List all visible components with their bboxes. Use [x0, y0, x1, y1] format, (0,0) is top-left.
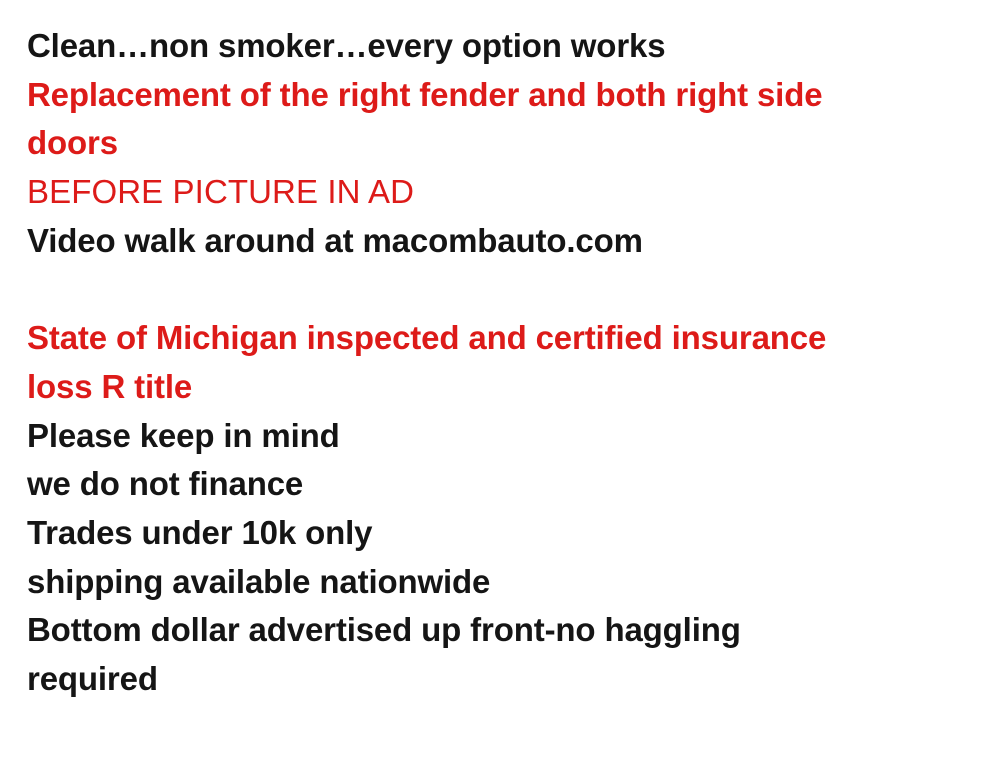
- line-bottom-dollar-1: Bottom dollar advertised up front-no hag…: [27, 606, 957, 655]
- line-video-walkaround: Video walk around at macombauto.com: [27, 217, 957, 266]
- line-michigan-inspected-2: loss R title: [27, 363, 957, 412]
- line-michigan-inspected-1: State of Michigan inspected and certifie…: [27, 314, 957, 363]
- line-spacer: [27, 266, 957, 315]
- line-condition: Clean…non smoker…every option works: [27, 22, 957, 71]
- line-replacement-2: doors: [27, 119, 957, 168]
- line-shipping: shipping available nationwide: [27, 558, 957, 607]
- ad-description-text-block: Clean…non smoker…every option worksRepla…: [27, 22, 957, 704]
- line-trades: Trades under 10k only: [27, 509, 957, 558]
- line-before-picture: BEFORE PICTURE IN AD: [27, 168, 957, 217]
- line-keep-in-mind: Please keep in mind: [27, 412, 957, 461]
- line-replacement-1: Replacement of the right fender and both…: [27, 71, 957, 120]
- ad-description-page: Clean…non smoker…every option worksRepla…: [0, 0, 988, 768]
- line-bottom-dollar-2: required: [27, 655, 957, 704]
- line-no-finance: we do not finance: [27, 460, 957, 509]
